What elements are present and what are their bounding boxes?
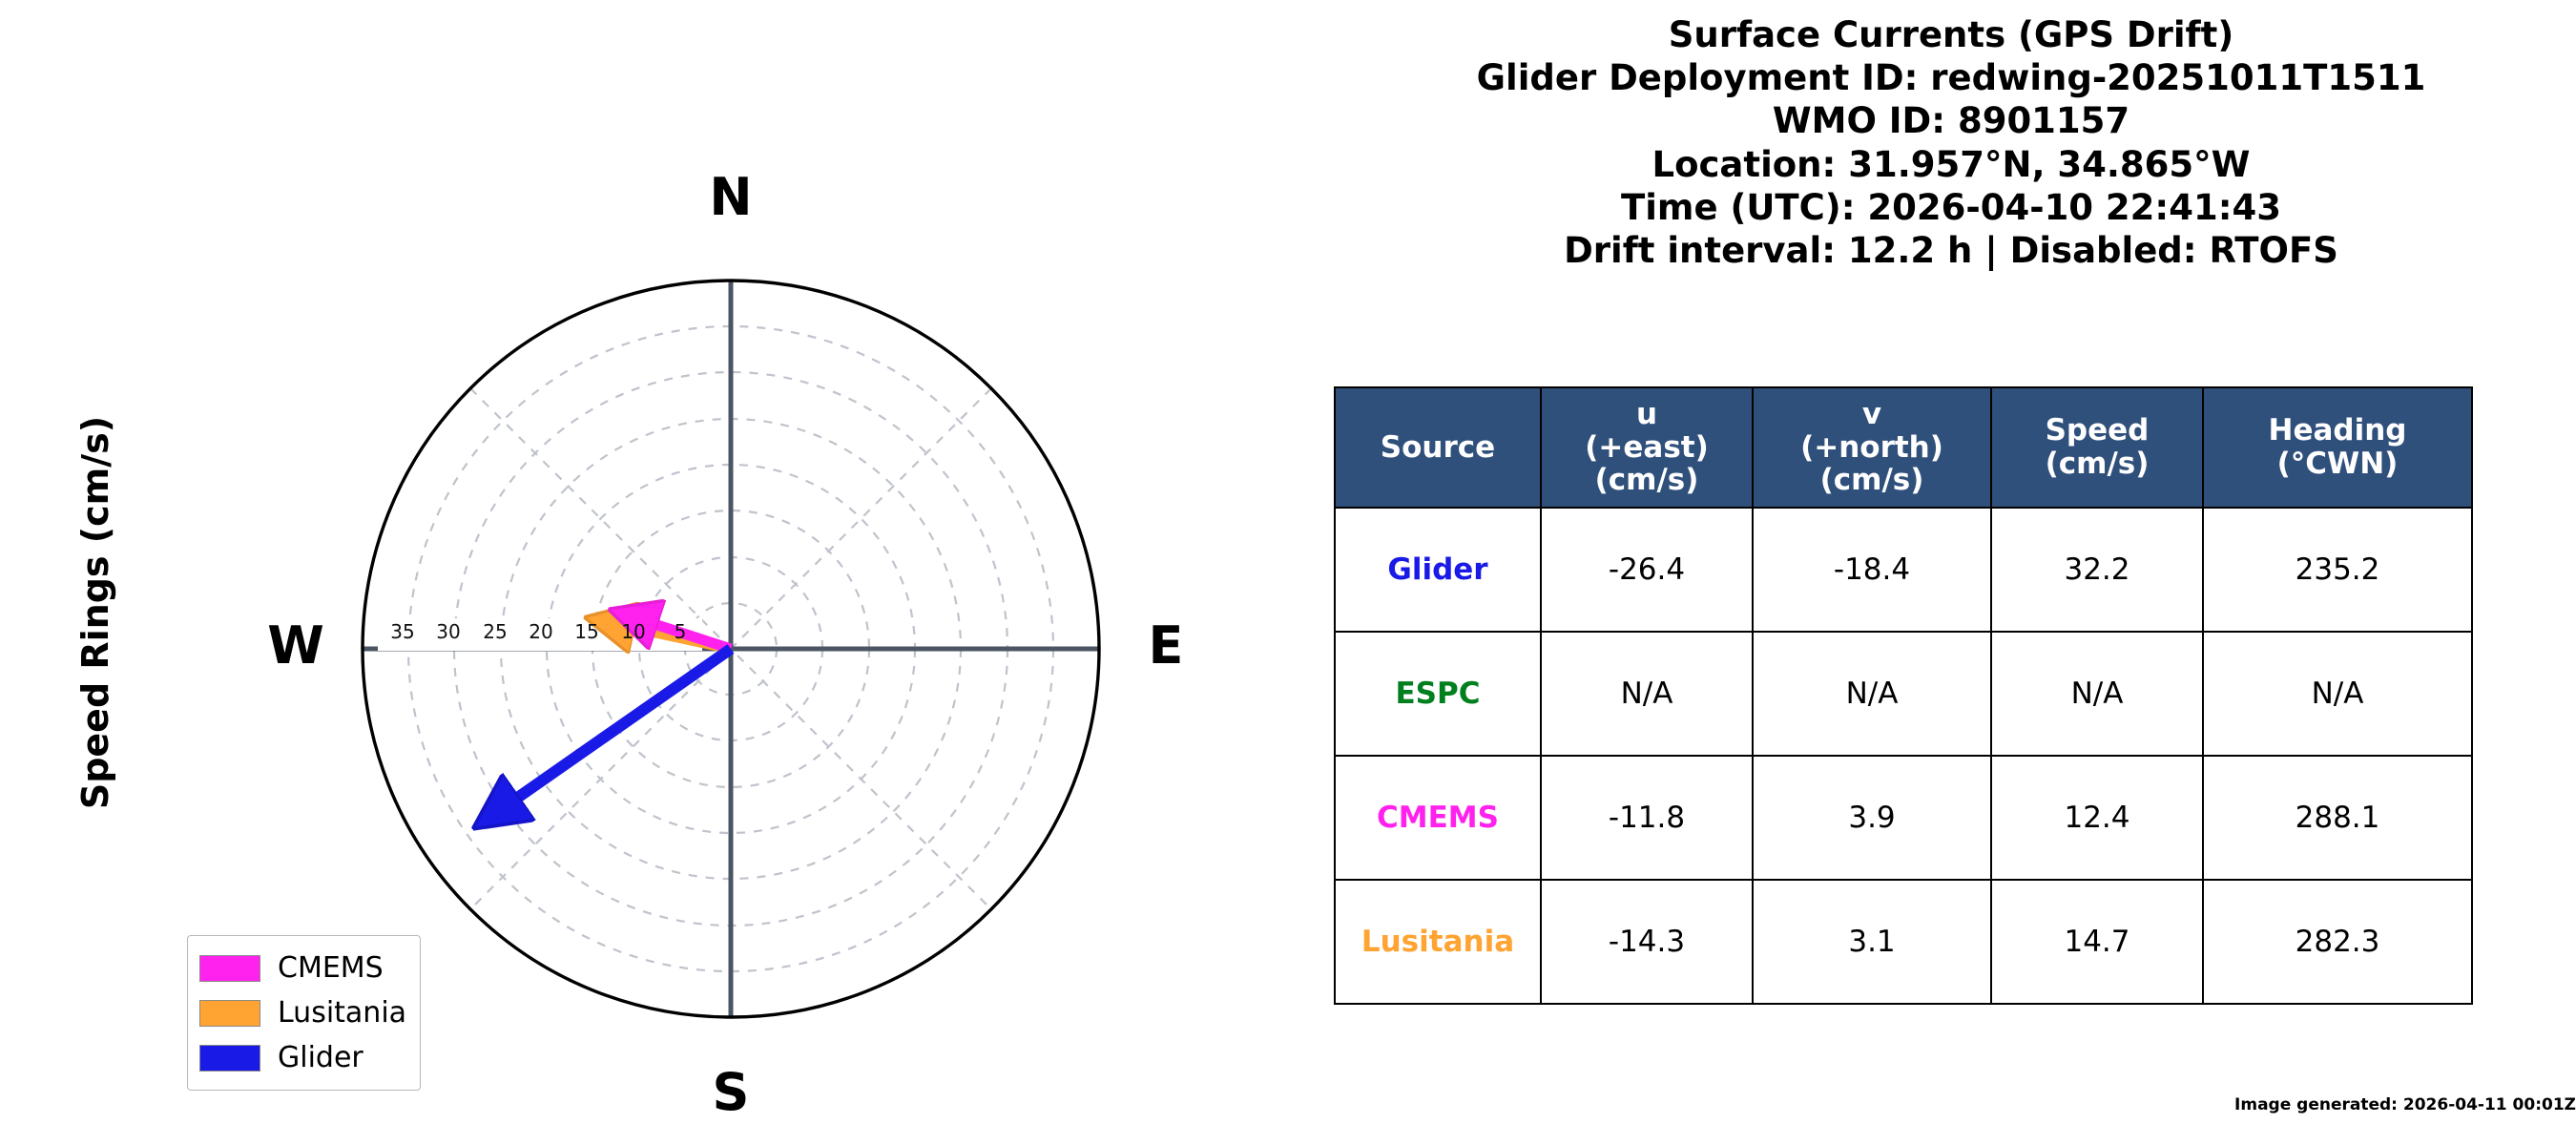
compass-label-east: E (1109, 620, 1223, 672)
title-line-deployment: Glider Deployment ID: redwing-20251011T1… (1326, 56, 2576, 99)
cell-heading-cmems: 288.1 (2203, 756, 2472, 880)
cell-v-glider: -18.4 (1753, 508, 1991, 632)
cell-heading-espc: N/A (2203, 632, 2472, 756)
cell-u-cmems: -11.8 (1541, 756, 1753, 880)
legend-item-lusitania[interactable]: Lusitania (199, 990, 406, 1035)
title-block: Surface Currents (GPS Drift) Glider Depl… (1326, 13, 2576, 272)
cell-speed-espc: N/A (1991, 632, 2203, 756)
cell-v-cmems: 3.9 (1753, 756, 1991, 880)
compass-label-north: N (674, 172, 788, 223)
info-panel: Surface Currents (GPS Drift) Glider Depl… (1326, 0, 2576, 1145)
cell-v-lusitania: 3.1 (1753, 880, 1991, 1004)
cell-speed-glider: 32.2 (1991, 508, 2203, 632)
compass-label-west: W (239, 620, 353, 672)
legend-swatch-glider (199, 1045, 260, 1072)
cell-v-espc: N/A (1753, 632, 1991, 756)
cell-source-lusitania: Lusitania (1335, 880, 1541, 1004)
column-header-source-line1: Source (1381, 430, 1495, 465)
table-header-row: Source u (+east) (cm/s) v (+north) (cm/s… (1335, 387, 2472, 508)
compass-label-south: S (674, 1067, 788, 1118)
column-header-heading-line1: Heading (2269, 413, 2407, 448)
title-line-location: Location: 31.957°N, 34.865°W (1326, 143, 2576, 186)
legend-item-glider[interactable]: Glider (199, 1035, 406, 1080)
column-header-v[interactable]: v (+north) (cm/s) (1753, 387, 1991, 508)
cell-source-cmems: CMEMS (1335, 756, 1541, 880)
title-line-drift: Drift interval: 12.2 h | Disabled: RTOFS (1326, 229, 2576, 272)
vector-arrow-glider (488, 649, 731, 819)
ring-tick-label-5: 5 (652, 620, 709, 643)
table-body: Glider -26.4 -18.4 32.2 235.2 ESPC N/A N… (1335, 508, 2472, 1004)
column-header-heading-line2: (°CWN) (2277, 447, 2399, 481)
figure-canvas: 35 30 25 20 15 10 5 N S W E Speed Rings … (0, 0, 2576, 1145)
table-row: Glider -26.4 -18.4 32.2 235.2 (1335, 508, 2472, 632)
column-header-v-line3: (cm/s) (1820, 463, 1924, 497)
column-header-v-line1: v (1862, 397, 1881, 431)
cell-speed-lusitania: 14.7 (1991, 880, 2203, 1004)
cell-source-glider: Glider (1335, 508, 1541, 632)
cell-u-lusitania: -14.3 (1541, 880, 1753, 1004)
column-header-source[interactable]: Source (1335, 387, 1541, 508)
column-header-u-line1: u (1636, 397, 1657, 431)
currents-table: Source u (+east) (cm/s) v (+north) (cm/s… (1334, 386, 2473, 1005)
generated-timestamp: Image generated: 2026-04-11 00:01Z (1326, 1095, 2576, 1114)
column-header-v-line2: (+north) (1800, 430, 1943, 465)
table-header: Source u (+east) (cm/s) v (+north) (cm/s… (1335, 387, 2472, 508)
legend-label-glider: Glider (278, 1041, 364, 1074)
title-line-wmo: WMO ID: 8901157 (1326, 99, 2576, 142)
cell-u-glider: -26.4 (1541, 508, 1753, 632)
column-header-speed-line2: (cm/s) (2046, 447, 2150, 481)
column-header-u[interactable]: u (+east) (cm/s) (1541, 387, 1753, 508)
column-header-u-line3: (cm/s) (1595, 463, 1699, 497)
legend-label-lusitania: Lusitania (278, 996, 406, 1030)
cell-heading-glider: 235.2 (2203, 508, 2472, 632)
cell-u-espc: N/A (1541, 632, 1753, 756)
table-row: Lusitania -14.3 3.1 14.7 282.3 (1335, 880, 2472, 1004)
legend: CMEMS Lusitania Glider (187, 935, 421, 1091)
column-header-speed[interactable]: Speed (cm/s) (1991, 387, 2203, 508)
legend-item-cmems[interactable]: CMEMS (199, 946, 406, 990)
polar-plot-panel: 35 30 25 20 15 10 5 N S W E Speed Rings … (0, 0, 1326, 1145)
title-line-time: Time (UTC): 2026-04-10 22:41:43 (1326, 186, 2576, 229)
legend-label-cmems: CMEMS (278, 951, 384, 985)
column-header-speed-line1: Speed (2046, 413, 2150, 448)
legend-swatch-lusitania (199, 1000, 260, 1027)
column-header-u-line2: (+east) (1585, 430, 1709, 465)
column-header-heading[interactable]: Heading (°CWN) (2203, 387, 2472, 508)
cell-source-espc: ESPC (1335, 632, 1541, 756)
radial-axis-title: Speed Rings (cm/s) (74, 393, 116, 832)
cell-speed-cmems: 12.4 (1991, 756, 2203, 880)
cell-heading-lusitania: 282.3 (2203, 880, 2472, 1004)
legend-swatch-cmems (199, 955, 260, 982)
table-row: ESPC N/A N/A N/A N/A (1335, 632, 2472, 756)
title-line-main: Surface Currents (GPS Drift) (1326, 13, 2576, 56)
table-row: CMEMS -11.8 3.9 12.4 288.1 (1335, 756, 2472, 880)
